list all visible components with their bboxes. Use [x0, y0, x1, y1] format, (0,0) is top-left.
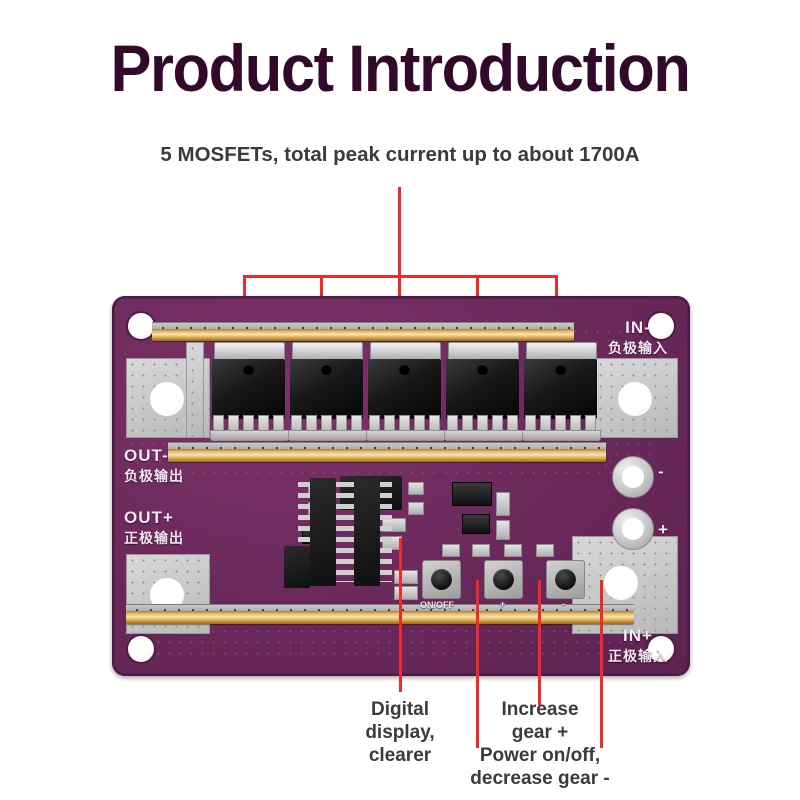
silkscreen-out-neg: OUT- 负极输出 — [124, 446, 184, 486]
page-title: Product Introduction — [28, 30, 772, 106]
mosfet-2 — [290, 342, 363, 434]
mosfet-screw-hole — [555, 364, 566, 375]
product-introduction-page: Product Introduction 5 MOSFETs, total pe… — [0, 0, 800, 800]
mosfet-screw-hole — [243, 364, 254, 375]
silkscreen-out-neg-en: OUT- — [124, 446, 184, 466]
mount-hole-top-left — [128, 313, 154, 339]
mosfet-body — [524, 359, 597, 419]
mosfet-leader-stem — [398, 187, 401, 277]
mosfet-5 — [524, 342, 597, 434]
mosfet-solder — [444, 430, 523, 441]
mosfet-body — [212, 359, 285, 419]
button-increase[interactable] — [484, 560, 523, 599]
button-onoff[interactable] — [422, 560, 461, 599]
increase-leader-line — [538, 580, 541, 705]
terminal-negative — [612, 456, 654, 498]
silkscreen-out-pos-cn: 正极输出 — [124, 528, 184, 548]
terminal-positive-mark: + — [658, 520, 669, 540]
busbar-top — [152, 329, 574, 341]
silkscreen-out-neg-cn: 负极输出 — [124, 466, 184, 486]
smd-regulator — [462, 514, 490, 534]
smd-label-block-1 — [394, 570, 418, 584]
mosfet-solder — [366, 430, 445, 441]
button-decrease[interactable] — [546, 560, 585, 599]
ic-column-2 — [354, 478, 380, 586]
annotation-increase-gear-line1: Increase — [455, 698, 625, 721]
mosfet-screw-hole — [399, 364, 410, 375]
busbar-middle — [168, 449, 606, 462]
annotation-power-onoff-line2: decrease gear - — [410, 767, 670, 790]
smd-resistor-7 — [504, 544, 522, 557]
ic-small-soic — [284, 546, 310, 588]
smd-resistor-8 — [536, 544, 554, 557]
silkscreen-in-neg-cn: 负极输入 — [608, 338, 668, 358]
silkscreen-in-neg-en: IN- — [608, 318, 668, 338]
busbar-bottom — [126, 611, 634, 624]
smd-resistor-5 — [442, 544, 460, 557]
pad-hole-out-neg — [150, 382, 184, 416]
mosfet-screw-hole — [477, 364, 488, 375]
button-onoff-label: ON/OFF — [420, 600, 454, 610]
silkscreen-out-pos: OUT+ 正极输出 — [124, 508, 184, 548]
pad-hole-in-neg — [618, 382, 652, 416]
ic-column-2-pins-left — [342, 482, 354, 582]
mosfet-body — [290, 359, 363, 419]
smd-diode-4 — [408, 502, 424, 515]
via-field-bottom — [142, 626, 642, 660]
mosfet-1 — [212, 342, 285, 434]
mosfet-screw-hole — [321, 364, 332, 375]
smd-resistor-6 — [472, 544, 490, 557]
mosfet-4 — [446, 342, 519, 434]
button-decrease-label: - — [562, 599, 565, 609]
smd-label-block-2 — [394, 586, 418, 600]
silkscreen-in-pos-en: IN+ — [608, 626, 668, 646]
ic-column-2-pins-right — [380, 482, 392, 582]
mosfet-solder — [522, 430, 601, 441]
mosfet-body — [446, 359, 519, 419]
annotation-increase-gear-line2: gear + — [455, 721, 625, 744]
mosfet-3 — [368, 342, 441, 434]
pad-strip-left — [186, 342, 204, 438]
mosfet-solder — [288, 430, 367, 441]
silkscreen-in-neg: IN- 负极输入 — [608, 318, 668, 358]
ic-column-1 — [310, 478, 336, 586]
silkscreen-in-pos-cn: 正极输入 — [608, 646, 668, 666]
smd-resistor-3 — [496, 492, 510, 516]
button-increase-label: + — [500, 599, 505, 609]
annotation-power-onoff: Power on/off, decrease gear - — [410, 744, 670, 790]
smd-mosfet-small — [452, 482, 492, 506]
smd-diode-3 — [408, 482, 424, 495]
display-leader-line — [399, 538, 402, 692]
silkscreen-out-pos-en: OUT+ — [124, 508, 184, 528]
pad-hole-in-pos — [604, 566, 638, 600]
annotation-increase-gear: Increase gear + — [455, 698, 625, 744]
terminal-positive — [612, 508, 654, 550]
mosfet-solder — [210, 430, 289, 441]
silkscreen-in-pos: IN+ 正极输入 — [608, 626, 668, 666]
annotation-power-onoff-line1: Power on/off, — [410, 744, 670, 767]
smd-resistor-4 — [496, 520, 510, 540]
terminal-negative-mark: - — [658, 462, 665, 482]
mosfet-annotation-text: 5 MOSFETs, total peak current up to abou… — [0, 143, 800, 167]
mount-hole-bottom-left — [128, 636, 154, 662]
mosfet-body — [368, 359, 441, 419]
